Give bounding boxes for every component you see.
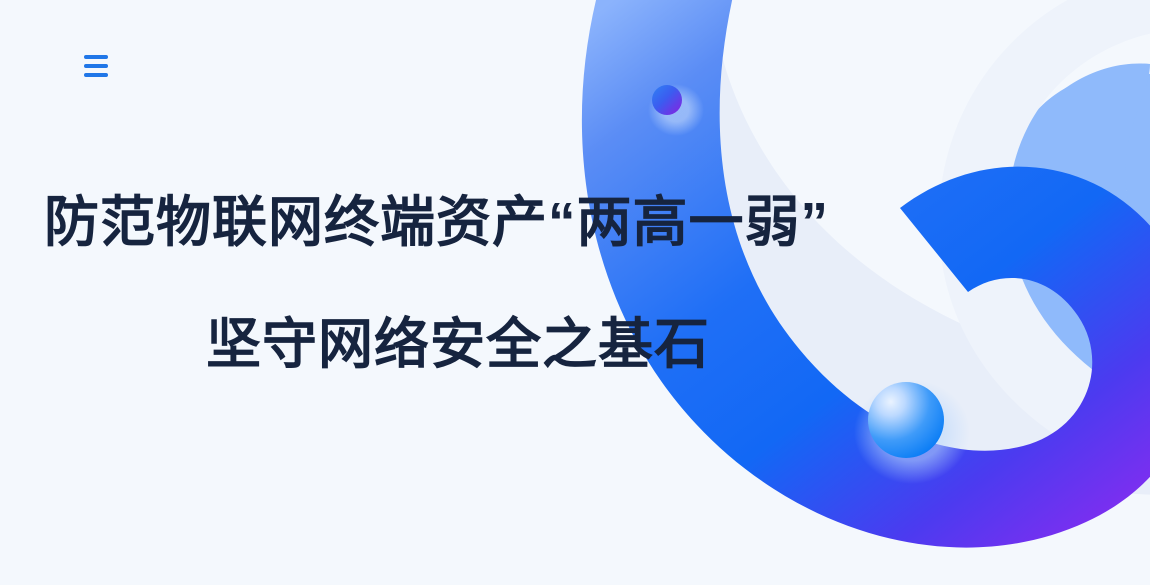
headline-line-1: 防范物联网终端资产“两高一弱” [0, 186, 880, 258]
headline-line-2: 坚守网络安全之基石 [0, 308, 880, 380]
menu-bar-bottom [84, 73, 108, 77]
menu-bar-top [84, 55, 108, 59]
page-title: 防范物联网终端资产“两高一弱” 坚守网络安全之基石 [0, 186, 880, 380]
slide-canvas: 防范物联网终端资产“两高一弱” 坚守网络安全之基石 [0, 0, 1150, 585]
large-blue-sphere [854, 380, 970, 484]
menu-bar-middle [84, 64, 108, 68]
hamburger-menu-icon[interactable] [84, 50, 114, 82]
arc-inner-gap [939, 0, 1150, 496]
light-blue-arc [1005, 63, 1150, 440]
small-gradient-sphere [648, 84, 704, 136]
